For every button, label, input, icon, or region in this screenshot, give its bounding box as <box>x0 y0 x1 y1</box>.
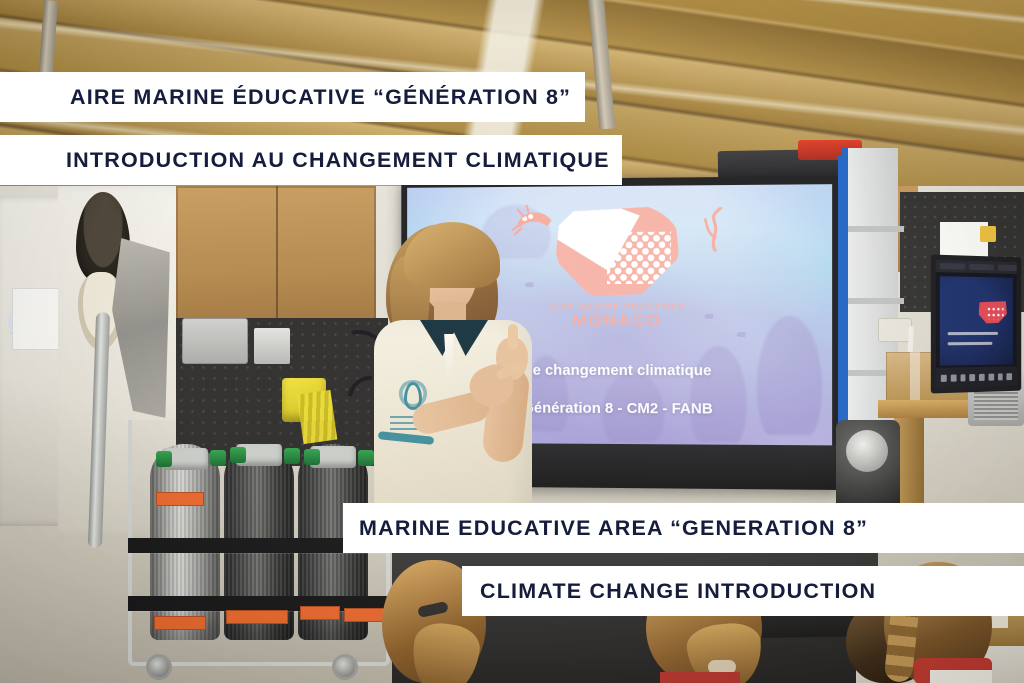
tank-knob-2 <box>210 450 226 466</box>
tank-label-2 <box>154 616 206 630</box>
next-slide-icon[interactable] <box>997 373 1002 380</box>
door-sign <box>12 288 62 350</box>
shelf-1 <box>848 226 904 232</box>
tank-knob-5 <box>304 449 320 465</box>
caption-banner-french-line2: INTRODUCTION AU CHANGEMENT CLIMATIQUE <box>0 135 622 185</box>
caption-banner-english-line2: CLIMATE CHANGE INTRODUCTION <box>462 566 1024 616</box>
grid-icon[interactable] <box>979 373 985 380</box>
more-options-icon[interactable] <box>1007 373 1012 380</box>
cart-wheel-left <box>146 654 172 680</box>
laptop-tab-1[interactable] <box>940 263 966 270</box>
laptop-tool-strip[interactable] <box>936 366 1017 388</box>
child-2-red-shirt <box>660 672 740 683</box>
crest-lozenge-pattern <box>607 232 671 284</box>
pen-icon[interactable] <box>941 374 947 381</box>
shelf-2 <box>848 298 904 304</box>
caption-banner-french-line1: AIRE MARINE ÉDUCATIVE “GÉNÉRATION 8” <box>0 72 585 122</box>
child-4-white-top <box>930 670 992 683</box>
equipment-box-small <box>254 328 290 364</box>
presenter-raised-finger <box>508 324 518 350</box>
tank-knob-1 <box>156 451 172 467</box>
tank-label-3 <box>226 610 288 624</box>
laptop-screen[interactable] <box>931 254 1021 393</box>
monaco-crest-icon <box>555 202 679 299</box>
tank-knob-4 <box>284 448 300 464</box>
prev-slide-icon[interactable] <box>988 373 993 380</box>
eraser-icon[interactable] <box>950 374 956 381</box>
laptop-monitor[interactable] <box>930 256 1024 392</box>
wooden-cabinet <box>176 186 376 338</box>
seaweed-icon <box>703 207 727 251</box>
cart-wheel-right <box>332 654 358 680</box>
laptop-browser-toolbar[interactable] <box>936 260 1017 274</box>
zoom-icon[interactable] <box>960 374 966 381</box>
coral-decor-5 <box>690 346 747 443</box>
tank-knob-3 <box>230 447 246 463</box>
wall-outlet <box>878 318 912 342</box>
tank-label-4 <box>300 606 340 620</box>
laptop-tab-2[interactable] <box>969 264 994 271</box>
tank-label-1 <box>156 492 204 506</box>
caption-banner-english-line1: MARINE EDUCATIVE AREA “GENERATION 8” <box>343 503 1024 553</box>
equipment-box <box>182 318 248 364</box>
ame-monaco-logo: AIRE MARINE ÉDUCATIVE MONACO <box>534 201 702 329</box>
laptop-crest-icon <box>978 300 1006 324</box>
pointer-icon[interactable] <box>970 374 976 381</box>
presenter <box>368 216 538 528</box>
laptop-slide-line-2 <box>948 342 993 345</box>
laptop-tab-3[interactable] <box>998 265 1020 272</box>
fish-decor-3 <box>737 332 746 337</box>
screenshot-root: AIRE MARINE ÉDUCATIVE MONACO Le changeme… <box>0 0 1024 683</box>
logo-wordmark: MONACO <box>534 312 702 330</box>
dive-regulator-gear <box>836 420 900 512</box>
laptop-slide-preview <box>940 276 1013 366</box>
fish-decor-2 <box>704 314 713 319</box>
laptop-slide-line-1 <box>948 331 998 334</box>
